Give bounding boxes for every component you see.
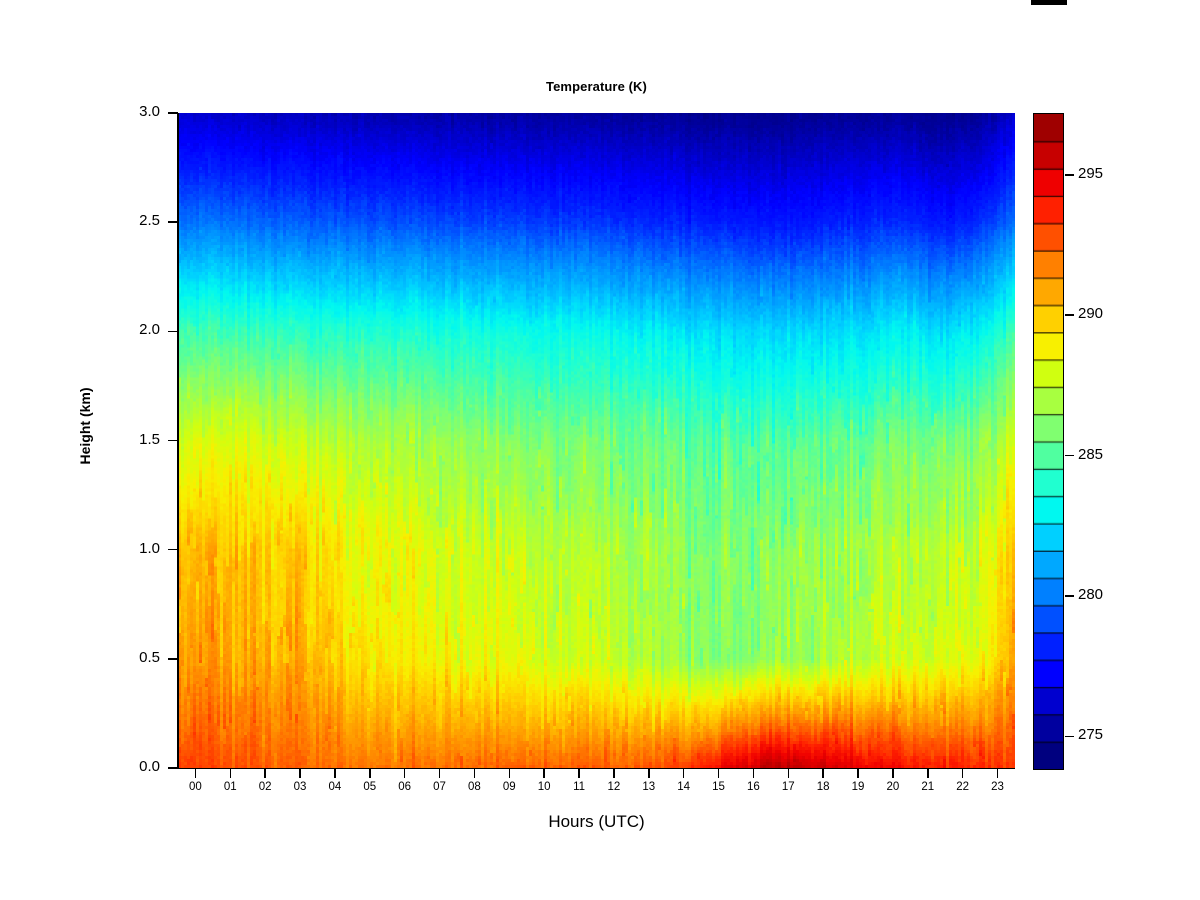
x-tick-label: 19 <box>843 781 873 793</box>
heatmap-plot-area <box>178 113 1015 768</box>
y-tick-mark <box>168 221 178 223</box>
chart-title: Temperature (K) <box>178 79 1015 94</box>
x-tick-mark <box>857 768 859 778</box>
heatmap-image <box>178 113 1015 768</box>
y-tick-mark <box>168 112 178 114</box>
x-tick-label: 05 <box>355 781 385 793</box>
x-tick-label: 02 <box>250 781 280 793</box>
x-tick-mark <box>264 768 266 778</box>
x-axis-title: Hours (UTC) <box>178 812 1015 832</box>
x-tick-mark <box>648 768 650 778</box>
x-tick-label: 20 <box>878 781 908 793</box>
x-tick-mark <box>683 768 685 778</box>
x-tick-label: 10 <box>529 781 559 793</box>
x-tick-label: 13 <box>634 781 664 793</box>
y-tick-mark <box>168 658 178 660</box>
x-tick-mark <box>369 768 371 778</box>
x-tick-mark <box>195 768 197 778</box>
x-tick-label: 15 <box>704 781 734 793</box>
colorbar-tick-label: 295 <box>1078 165 1103 182</box>
x-tick-mark <box>997 768 999 778</box>
x-tick-label: 17 <box>773 781 803 793</box>
y-tick-label: 2.0 <box>110 321 160 338</box>
x-tick-label: 03 <box>285 781 315 793</box>
x-tick-mark <box>404 768 406 778</box>
x-tick-mark <box>927 768 929 778</box>
y-tick-label: 2.5 <box>110 212 160 229</box>
x-tick-label: 18 <box>808 781 838 793</box>
x-tick-label: 07 <box>425 781 455 793</box>
x-tick-mark <box>892 768 894 778</box>
x-tick-label: 12 <box>599 781 629 793</box>
x-tick-label: 00 <box>180 781 210 793</box>
colorbar-tick-mark <box>1065 595 1074 597</box>
x-tick-label: 11 <box>564 781 594 793</box>
x-tick-label: 21 <box>913 781 943 793</box>
y-tick-label: 0.0 <box>110 758 160 775</box>
x-tick-mark <box>578 768 580 778</box>
x-tick-label: 16 <box>738 781 768 793</box>
x-tick-label: 04 <box>320 781 350 793</box>
colorbar <box>1033 113 1064 770</box>
colorbar-tick-label: 290 <box>1078 305 1103 322</box>
y-tick-mark <box>168 767 178 769</box>
x-tick-mark <box>718 768 720 778</box>
x-tick-mark <box>613 768 615 778</box>
colorbar-tick-mark <box>1065 174 1074 176</box>
x-tick-mark <box>788 768 790 778</box>
y-tick-label: 3.0 <box>110 103 160 120</box>
y-tick-mark <box>168 549 178 551</box>
y-tick-label: 1.0 <box>110 540 160 557</box>
colorbar-tick-label: 275 <box>1078 726 1103 743</box>
x-tick-label: 08 <box>459 781 489 793</box>
x-tick-label: 09 <box>494 781 524 793</box>
x-tick-mark <box>299 768 301 778</box>
colorbar-tick-mark <box>1065 314 1074 316</box>
y-axis-title: Height (km) <box>77 336 93 516</box>
x-tick-label: 06 <box>390 781 420 793</box>
x-tick-mark <box>439 768 441 778</box>
x-tick-label: 22 <box>948 781 978 793</box>
colorbar-tick-mark <box>1065 455 1074 457</box>
colorbar-tick-mark <box>1065 736 1074 738</box>
figure-canvas: Temperature (K) 0.00.51.01.52.02.53.0 00… <box>0 0 1200 900</box>
y-tick-label: 1.5 <box>110 431 160 448</box>
x-tick-mark <box>334 768 336 778</box>
y-tick-mark <box>168 331 178 333</box>
x-tick-mark <box>753 768 755 778</box>
y-tick-label: 0.5 <box>110 649 160 666</box>
x-tick-mark <box>543 768 545 778</box>
x-tick-mark <box>962 768 964 778</box>
x-tick-mark <box>822 768 824 778</box>
colorbar-tick-label: 285 <box>1078 446 1103 463</box>
x-tick-mark <box>474 768 476 778</box>
x-tick-label: 01 <box>215 781 245 793</box>
y-tick-mark <box>168 440 178 442</box>
x-tick-label: 14 <box>669 781 699 793</box>
top-right-artifact-bar <box>1031 0 1067 5</box>
colorbar-gradient <box>1033 113 1064 770</box>
colorbar-tick-label: 280 <box>1078 586 1103 603</box>
x-tick-mark <box>230 768 232 778</box>
x-axis-line <box>177 768 1015 770</box>
x-tick-label: 23 <box>983 781 1013 793</box>
x-tick-mark <box>509 768 511 778</box>
